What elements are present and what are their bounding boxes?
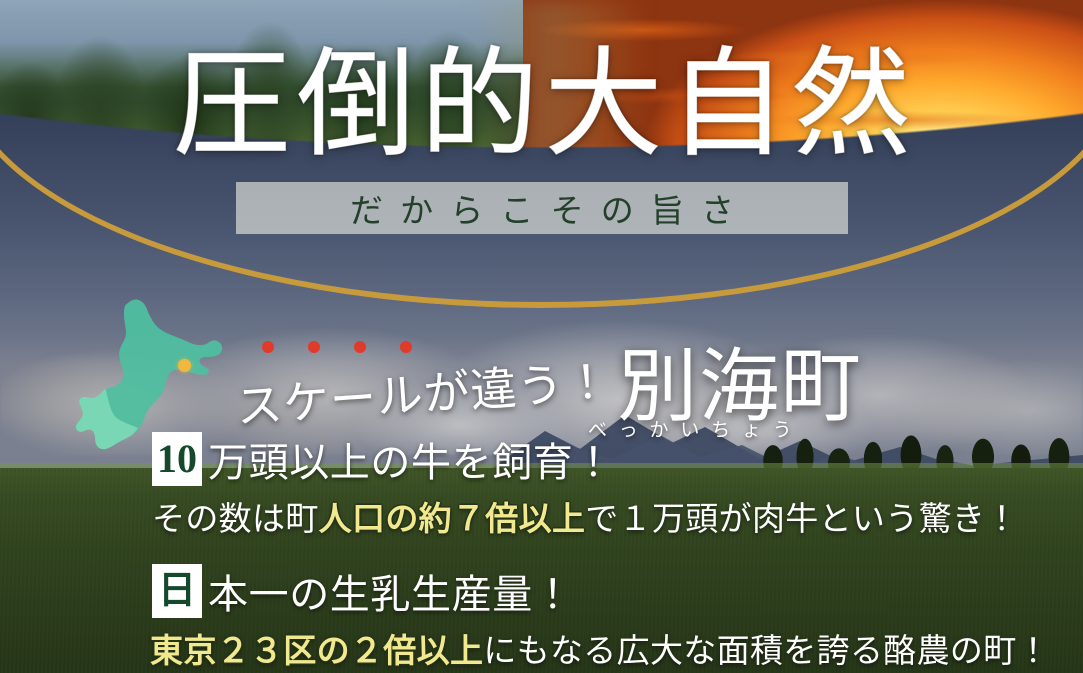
- fact-sub-highlight: 人口の約７倍以上: [319, 502, 586, 538]
- fact-badge: 10: [152, 432, 202, 486]
- page-title: 圧倒的大自然: [0, 46, 1083, 166]
- fact-headline-row: 日 本一の生乳生産量！: [0, 562, 1083, 620]
- fact-item: 日 本一の生乳生産量！ 東京２３区の２倍以上にもなる広大な面積を誇る酪農の町！: [0, 562, 1083, 672]
- bekkai-location-marker: [178, 359, 191, 372]
- fact-sub-highlight: 東京２３区の２倍以上: [150, 634, 483, 670]
- fact-item: 10 万頭以上の牛を飼育！ その数は町人口の約７倍以上で１万頭が肉牛という驚き！: [0, 430, 1083, 540]
- fact-list: 10 万頭以上の牛を飼育！ その数は町人口の約７倍以上で１万頭が肉牛という驚き！…: [0, 430, 1083, 673]
- town-tagline: スケールが違う！: [234, 345, 613, 437]
- promo-banner: 圧倒的大自然 だからこその旨さ スケールが違う！ 別海町 べっかいちょう 10 …: [0, 0, 1083, 673]
- hero-subtitle: だからこその旨さ: [236, 182, 848, 234]
- fact-subline: 東京２３区の２倍以上にもなる広大な面積を誇る酪農の町！: [0, 624, 1083, 672]
- fact-headline: 万頭以上の牛を飼育！: [208, 430, 614, 488]
- hero-title-block: 圧倒的大自然: [0, 46, 1083, 166]
- fact-badge: 日: [152, 564, 202, 618]
- fact-headline: 本一の生乳生産量！: [208, 562, 573, 620]
- fact-sub-post: にもなる広大な面積を誇る酪農の町！: [483, 634, 1050, 670]
- fact-sub-post: で１万頭が肉牛という驚き！: [585, 502, 1018, 538]
- fact-sub-pre: その数は町: [152, 502, 319, 538]
- fact-subline: その数は町人口の約７倍以上で１万頭が肉牛という驚き！: [0, 492, 1083, 540]
- fact-headline-row: 10 万頭以上の牛を飼育！: [0, 430, 1083, 488]
